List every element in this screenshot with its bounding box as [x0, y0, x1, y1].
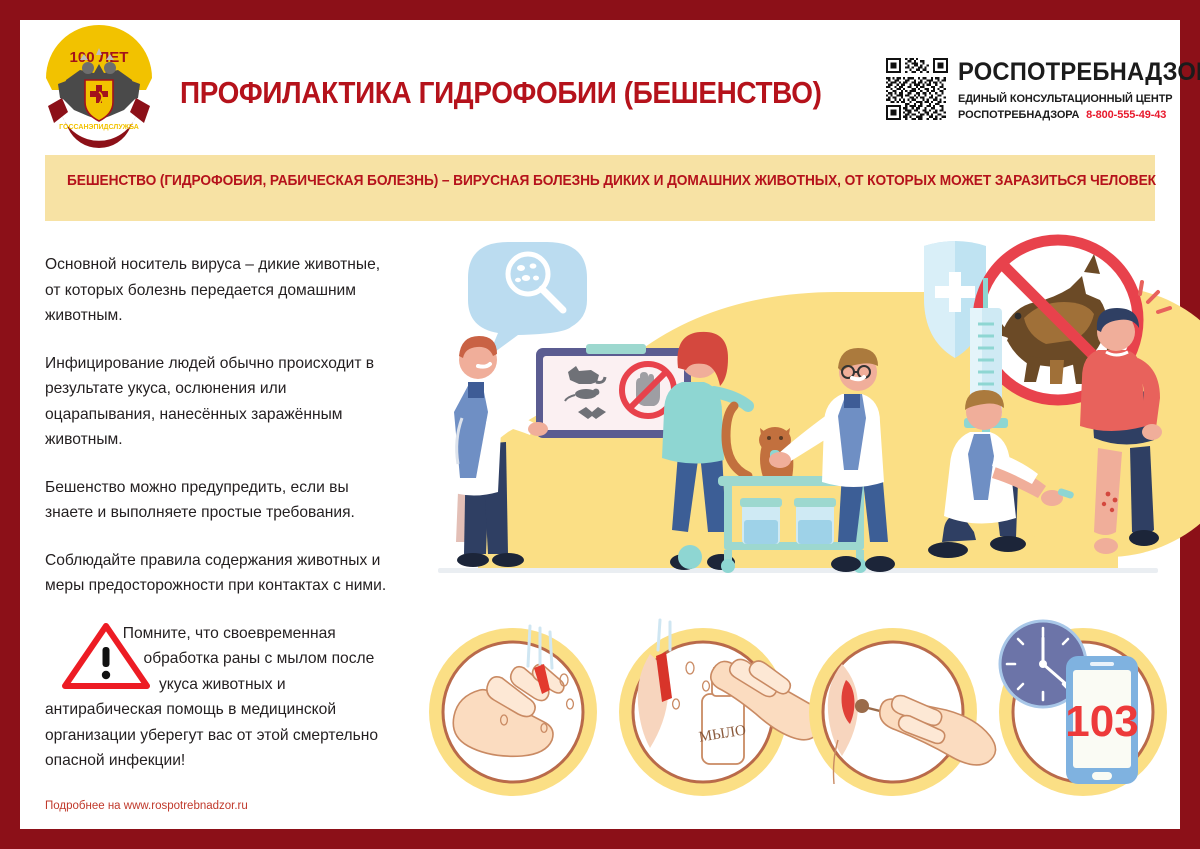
warning-block: Помните, что своевременная обработка ран… — [45, 621, 397, 774]
body-paragraph: Инфицирование людей обычно происходит в … — [45, 351, 397, 453]
definition-banner: БЕШЕНСТВО (ГИДРОФОБИЯ, РАБИЧЕСКАЯ БОЛЕЗН… — [45, 155, 1155, 221]
definition-banner-text: БЕШЕНСТВО (ГИДРОФОБИЯ, РАБИЧЕСКАЯ БОЛЕЗН… — [67, 170, 1167, 192]
step-call-emergency[interactable]: 103 — [999, 621, 1167, 796]
footer-website-link[interactable]: Подробнее на www.rospotrebnadzor.ru — [45, 800, 248, 812]
emergency-number: 103 — [1065, 697, 1138, 746]
consultation-phone[interactable]: 8-800-555-49-43 — [1086, 109, 1166, 121]
body-text-column: Основной носитель вируса – дикие животны… — [45, 252, 397, 774]
page-title: ПРОФИЛАКТИКА ГИДРОФОБИИ (БЕШЕНСТВО) — [180, 75, 801, 111]
body-paragraph: Бешенство можно предупредить, если вы зн… — [45, 475, 397, 526]
step-wash-wound[interactable] — [429, 626, 597, 796]
ground-line — [438, 568, 1158, 573]
poster-card: 100 ЛЕТ ГОССАНЭПИДСЛУЖБА ПРОФ — [20, 20, 1180, 829]
step-antiseptic[interactable] — [809, 628, 996, 796]
phone-icon: 103 — [1065, 656, 1138, 784]
poster-header: 100 ЛЕТ ГОССАНЭПИДСЛУЖБА ПРОФ — [20, 20, 1180, 150]
first-aid-steps: МЫЛО — [418, 620, 1178, 810]
state-emblem-double-eagle-icon: 100 ЛЕТ ГОССАНЭПИДСЛУЖБА — [44, 28, 154, 146]
rabies-prevention-illustration — [418, 232, 1178, 612]
qr-code-icon — [886, 58, 948, 120]
step-soap[interactable]: МЫЛО — [619, 620, 822, 796]
body-paragraph: Соблюдайте правила содержания животных и… — [45, 548, 397, 599]
brand-subtitle-line2: РОСПОТРЕБНАДЗОРА8-800-555-49-43 — [958, 109, 1166, 121]
brand-subtitle-line2-text: РОСПОТРЕБНАДЗОРА — [958, 109, 1079, 121]
brand-block: РОСПОТРЕБНАДЗОР ЕДИНЫЙ КОНСУЛЬТАЦИОННЫЙ … — [886, 42, 1156, 147]
brand-name: РОСПОТРЕБНАДЗОР — [958, 58, 1200, 87]
body-paragraph: Основной носитель вируса – дикие животны… — [45, 252, 397, 329]
emblem-ribbon-text: ГОССАНЭПИДСЛУЖБА — [59, 124, 139, 131]
brand-subtitle-line1: ЕДИНЫЙ КОНСУЛЬТАЦИОННЫЙ ЦЕНТР — [958, 93, 1173, 105]
